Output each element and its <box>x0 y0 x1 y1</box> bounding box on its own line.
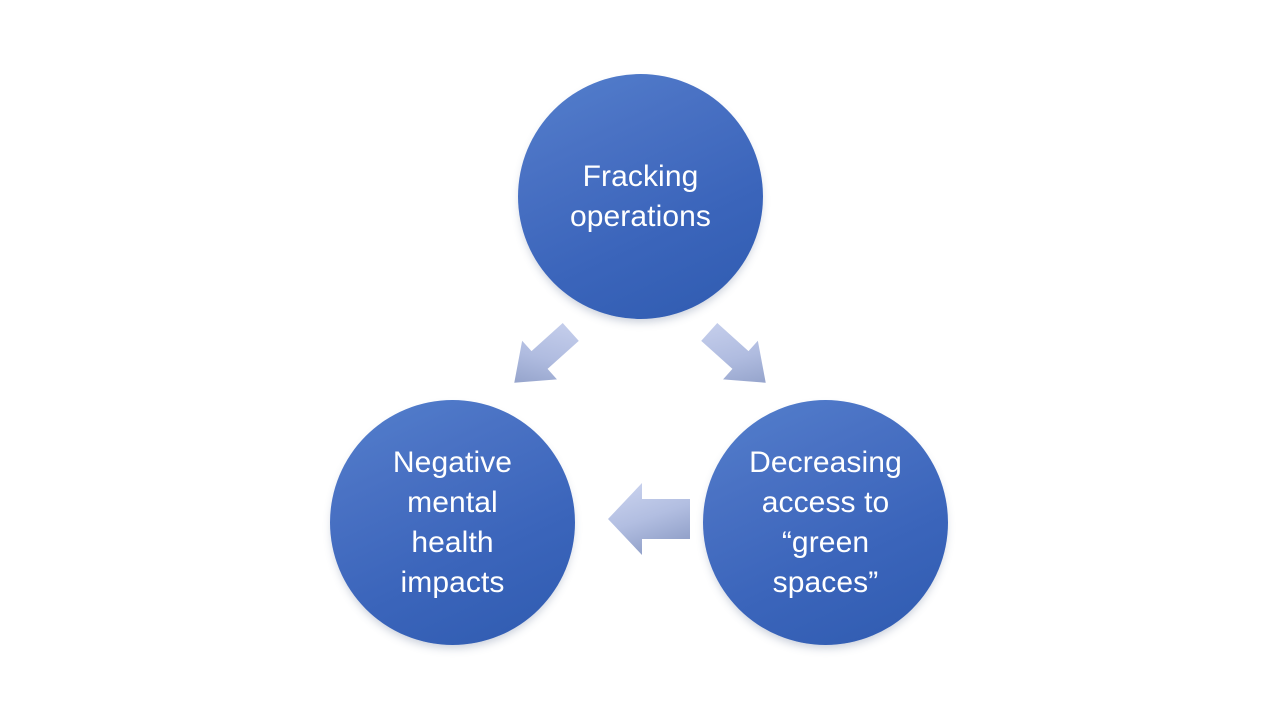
node-decreasing-access-green-spaces-label: Decreasing access to “green spaces” <box>735 443 916 603</box>
node-negative-mental-health-impacts[interactable]: Negative mental health impacts <box>330 400 575 645</box>
diagram-canvas: Fracking operations Negative mental heal… <box>0 0 1280 720</box>
arrow-left-icon <box>600 476 698 562</box>
node-fracking-operations[interactable]: Fracking operations <box>518 74 763 319</box>
node-decreasing-access-green-spaces[interactable]: Decreasing access to “green spaces” <box>703 400 948 645</box>
node-fracking-operations-label: Fracking operations <box>556 157 725 237</box>
arrow-down-right-icon <box>688 312 784 400</box>
node-negative-mental-health-impacts-label: Negative mental health impacts <box>379 443 526 603</box>
arrow-down-left-icon <box>496 312 592 400</box>
